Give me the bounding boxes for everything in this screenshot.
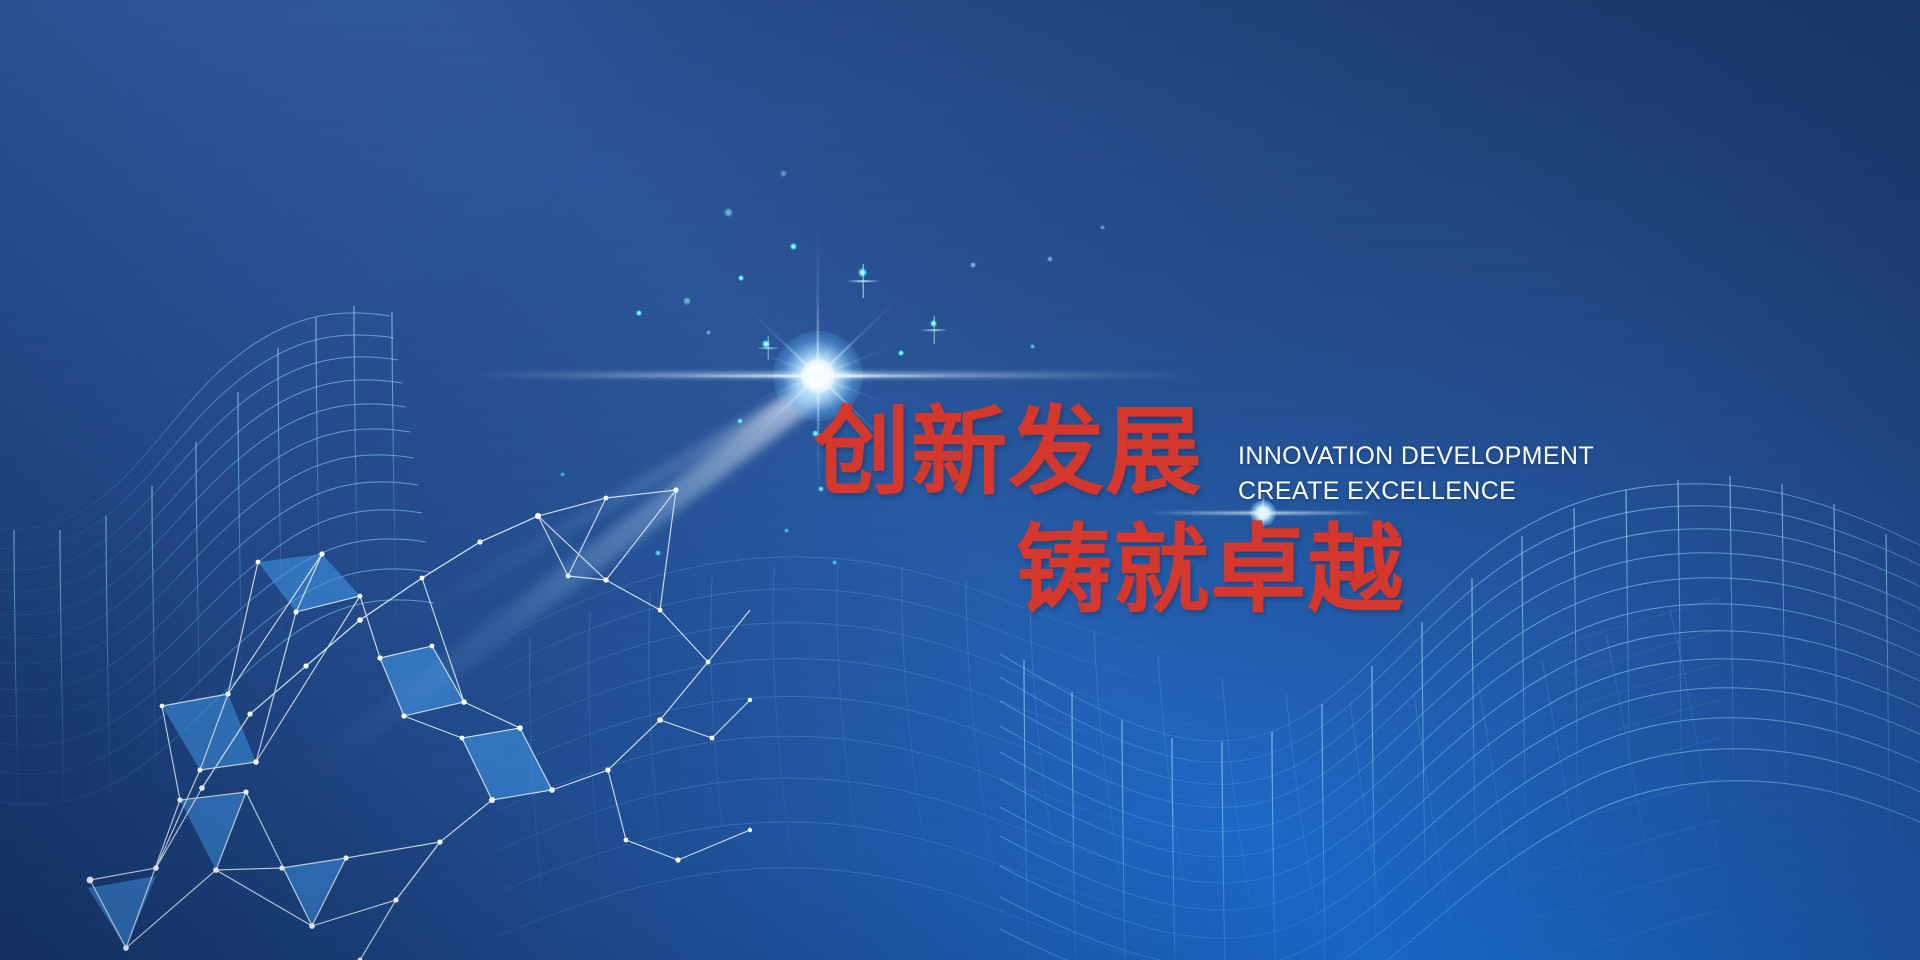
background-vignette <box>0 0 1920 960</box>
banner-stage: 创新发展 铸就卓越 INNOVATION DEVELOPMENT CREATE … <box>0 0 1920 960</box>
